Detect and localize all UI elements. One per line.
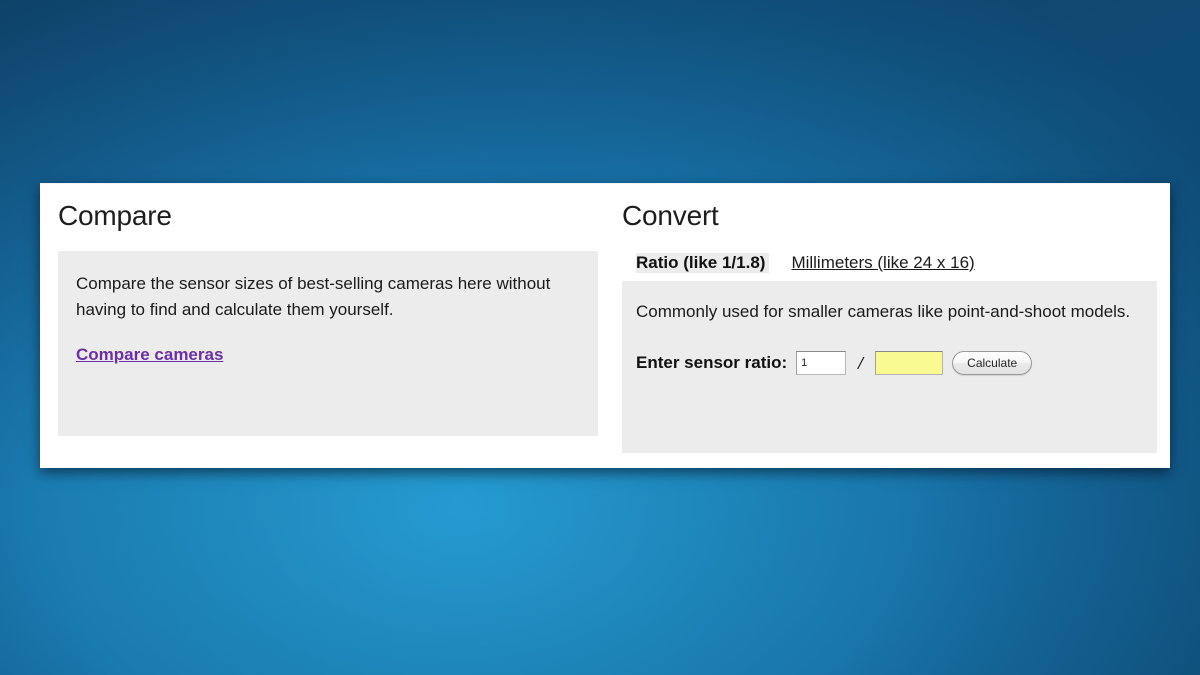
sensor-ratio-form: Enter sensor ratio: / Calculate — [636, 351, 1137, 375]
sensor-ratio-label: Enter sensor ratio: — [636, 353, 787, 373]
compare-description: Compare the sensor sizes of best-selling… — [76, 271, 574, 323]
compare-heading: Compare — [58, 199, 598, 233]
convert-heading: Convert — [622, 199, 1154, 233]
ratio-separator: / — [855, 353, 866, 374]
convert-panel: Commonly used for smaller cameras like p… — [622, 281, 1157, 453]
ratio-denominator-input[interactable] — [875, 351, 943, 375]
compare-column: Compare Compare the sensor sizes of best… — [40, 184, 620, 468]
content-card: Compare Compare the sensor sizes of best… — [40, 183, 1170, 468]
convert-tablist: Ratio (like 1/1.8) Millimeters (like 24 … — [622, 253, 1154, 275]
tab-ratio[interactable]: Ratio (like 1/1.8) — [636, 253, 769, 273]
ratio-numerator-input[interactable] — [796, 351, 846, 375]
convert-column: Convert Ratio (like 1/1.8) Millimeters (… — [620, 184, 1170, 468]
calculate-button[interactable]: Calculate — [952, 351, 1032, 375]
compare-panel: Compare the sensor sizes of best-selling… — [58, 251, 598, 436]
tab-millimeters[interactable]: Millimeters (like 24 x 16) — [791, 253, 974, 273]
convert-description: Commonly used for smaller cameras like p… — [636, 299, 1137, 325]
compare-cameras-link[interactable]: Compare cameras — [76, 345, 223, 365]
page-background: Compare Compare the sensor sizes of best… — [0, 0, 1200, 675]
